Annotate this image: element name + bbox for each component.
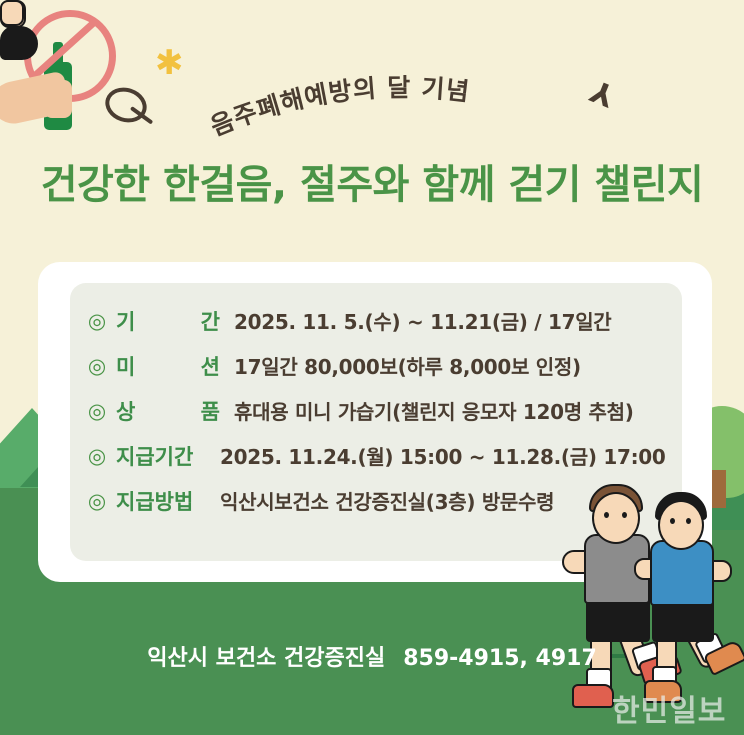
info-row-value: 익산시보건소 건강증진실(3층) 방문수령 <box>220 486 554 515</box>
info-row-label: 상 품 <box>116 396 234 426</box>
runner-man-shoe <box>572 684 614 708</box>
poster-canvas: ✱ ⅄ 음주폐해예방의 달 기념 건강한 한걸음, 절주와 함께 걷기 챌린지 … <box>0 0 744 735</box>
spiral-icon: ◎ <box>86 445 108 467</box>
spiral-icon: ◎ <box>86 400 108 422</box>
page-title: 건강한 한걸음, 절주와 함께 걷기 챌린지 <box>0 152 744 210</box>
spiral-icon: ◎ <box>86 310 108 332</box>
eyebrow-arc: 음주폐해예방의 달 기념 <box>0 44 744 124</box>
info-row-label-part-a: 미 <box>116 351 135 381</box>
info-row: ◎ 미 션 17일간 80,000보(하루 8,000보 인정) <box>86 345 686 386</box>
runner-man-eye <box>622 512 627 518</box>
info-row-label-part-b: 션 <box>201 351 220 381</box>
runner-woman-eye <box>670 518 675 524</box>
runner-woman-illustration <box>0 0 38 60</box>
runner-woman-fist <box>0 0 24 26</box>
info-row: ◎ 지급기간 2025. 11.24.(월) 15:00 ~ 11.28.(금)… <box>86 435 686 476</box>
info-row: ◎ 상 품 휴대용 미니 가습기(챌린지 응모자 120명 추첨) <box>86 390 686 431</box>
info-row-label: 지급방법 <box>116 486 220 516</box>
footer-contact: 익산시 보건소 건강증진실859-4915, 4917 <box>0 640 744 672</box>
runner-woman-eye <box>686 518 691 524</box>
watermark: 한민일보 <box>612 686 726 730</box>
info-row: ◎ 기 간 2025. 11. 5.(수) ~ 11.21(금) / 17일간 <box>86 300 686 341</box>
runner-man-eye <box>604 512 609 518</box>
info-row-label-part-b: 간 <box>201 306 220 336</box>
info-row-label: 미 션 <box>116 351 234 381</box>
footer-organization: 익산시 보건소 건강증진실 <box>147 646 385 671</box>
info-row-label: 지급기간 <box>116 441 220 471</box>
info-row-value: 2025. 11.24.(월) 15:00 ~ 11.28.(금) 17:00 <box>220 441 666 470</box>
runner-man-head <box>592 492 640 544</box>
spiral-icon: ◎ <box>86 355 108 377</box>
info-row-value: 2025. 11. 5.(수) ~ 11.21(금) / 17일간 <box>234 306 611 335</box>
info-row-value: 17일간 80,000보(하루 8,000보 인정) <box>234 351 581 380</box>
footer-phone: 859-4915, 4917 <box>403 646 597 671</box>
runner-woman-head <box>658 500 704 550</box>
info-row-value: 휴대용 미니 가습기(챌린지 응모자 120명 추첨) <box>234 396 634 425</box>
info-row-label-part-a: 상 <box>116 396 135 426</box>
info-row-label-part-b: 품 <box>201 396 220 426</box>
runner-woman-ponytail <box>0 26 38 60</box>
eyebrow-arc-text: 음주폐해예방의 달 기념 <box>206 73 471 141</box>
info-row-label-part-a: 기 <box>116 306 135 336</box>
tree-trunk-shape <box>711 470 726 508</box>
spiral-icon: ◎ <box>86 490 108 512</box>
info-row-label: 기 간 <box>116 306 234 336</box>
